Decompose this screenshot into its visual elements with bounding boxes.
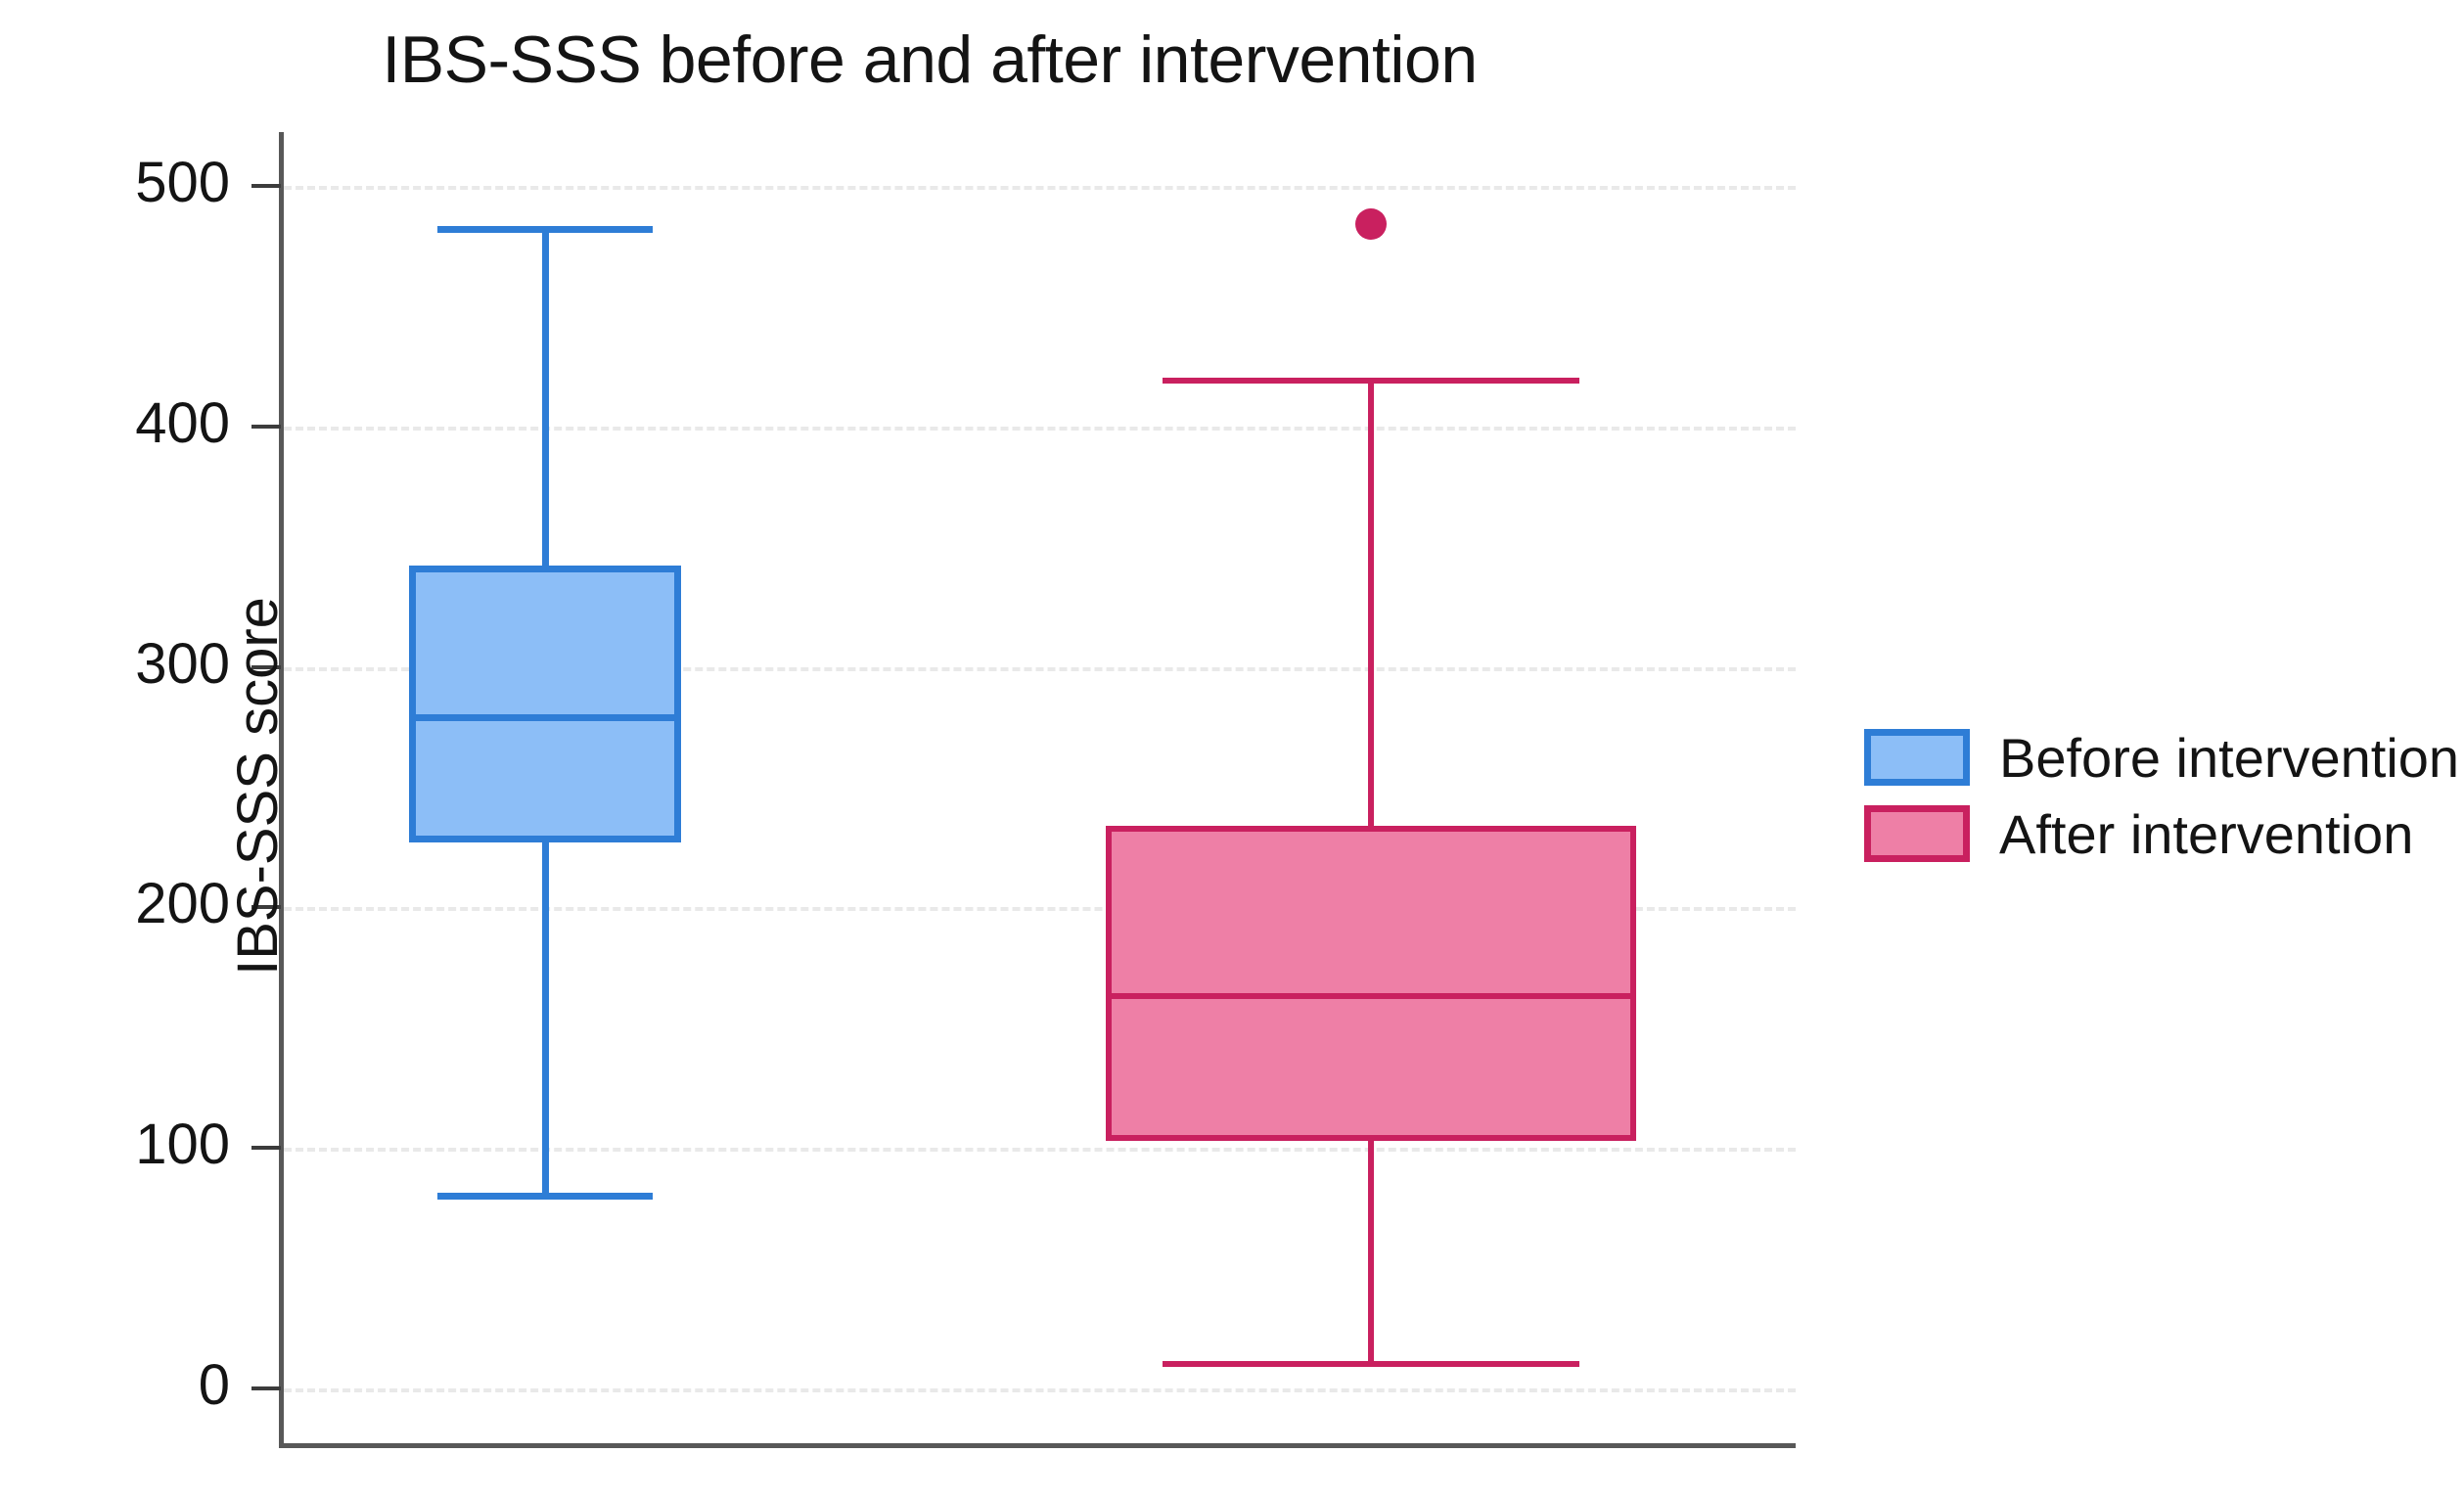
y-tick-mark-100 [251,1146,281,1150]
y-tick-label-300: 300 [44,636,230,693]
y-tick-mark-400 [251,425,281,429]
y-tick-label-500: 500 [44,155,230,211]
y-tick-label-100: 100 [44,1116,230,1173]
legend-item-before[interactable]: Before intervention [1864,719,2451,795]
y-tick-mark-0 [251,1386,281,1390]
y-tick-label-200: 200 [44,876,230,932]
chart-figure: IBS-SSS before and after intervention 01… [0,0,2464,1499]
boxplot-after[interactable] [279,127,1796,1448]
chart-title: IBS-SSS before and after intervention [0,22,1859,98]
legend-item-after[interactable]: After intervention [1864,795,2451,872]
y-tick-label-0: 0 [44,1357,230,1414]
upper-whisker-cap [1163,378,1579,384]
chart-legend: Before intervention After intervention [1864,719,2451,872]
legend-label-after: After intervention [1999,802,2413,866]
legend-swatch-after [1864,805,1970,862]
legend-label-before: Before intervention [1999,726,2459,790]
y-tick-mark-500 [251,184,281,188]
lower-whisker-cap [1163,1361,1579,1367]
lower-whisker-line [1368,1141,1374,1365]
median-line [1106,993,1636,999]
upper-whisker-line [1368,381,1374,826]
outlier-point[interactable] [1355,208,1387,240]
legend-swatch-before [1864,729,1970,786]
plot-area: 0100200300400500 IBS-SSS score [279,127,1796,1448]
y-tick-label-400: 400 [44,395,230,452]
iqr-box[interactable] [1106,826,1636,1141]
